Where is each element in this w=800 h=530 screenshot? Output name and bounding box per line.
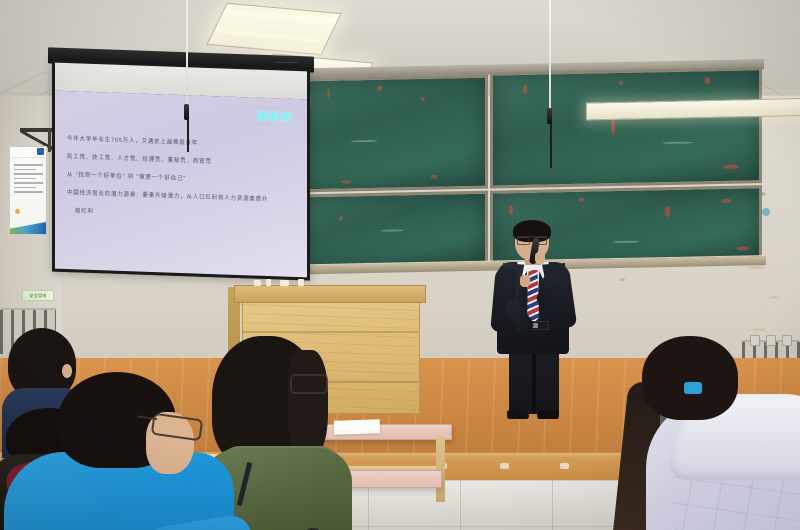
student-hair xyxy=(642,336,738,420)
slide-line: 级红利 xyxy=(75,209,297,222)
projected-slide: 课前秀 今年大学毕业生765万人，又遇史上最难就业年 民工荒、技工荒、人才荒、经… xyxy=(55,91,307,278)
lectern-top xyxy=(234,285,426,303)
lecturer-hand xyxy=(535,252,545,264)
wall-sticker-label: 安全用电 xyxy=(23,291,53,300)
screen-case-label: ————— xyxy=(276,59,298,65)
slide-line: 从 "找到一个好单位" 到 "做更一个好自己" xyxy=(67,173,297,186)
poster-seal-icon xyxy=(15,209,20,214)
blackboard-panel xyxy=(490,67,762,188)
poster-footer-band xyxy=(10,222,46,234)
poster-logo-icon xyxy=(37,148,44,155)
student-lavender-puffer xyxy=(624,336,800,530)
lecturer-hand xyxy=(520,275,530,287)
hanging-microphone-icon xyxy=(184,104,189,120)
hanging-mic-pole xyxy=(186,0,188,108)
classroom-lecture-photo: 安全用电 xyxy=(0,0,800,530)
ceiling-light-icon xyxy=(206,3,341,55)
slide-line: 民工荒、技工荒、人才荒、经理荒、董秘荒、高管荒 xyxy=(67,155,297,168)
glasses-icon xyxy=(290,374,328,394)
student-blue-hoodie xyxy=(34,372,284,530)
hair-tie-icon xyxy=(684,382,702,394)
desk-leg xyxy=(436,436,445,502)
projector-screen: ————— 课前秀 今年大学毕业生765万人，又遇史上最难就业年 民工荒、技工荒… xyxy=(52,59,310,280)
slide-line: 今年大学毕业生765万人，又遇史上最难就业年 xyxy=(67,137,297,150)
wall-sticker: 安全用电 xyxy=(22,290,54,301)
lecturer-shoe xyxy=(507,410,529,419)
slide-title: 课前秀 xyxy=(257,108,293,124)
notice-poster xyxy=(9,146,47,235)
lecturer-shoe xyxy=(537,410,559,419)
lecturer xyxy=(487,222,583,428)
slide-line: 中国经济增长的潜力源泉：要素升级潜力，从人口红利到人力资源素质升 xyxy=(67,191,297,204)
lectern-items xyxy=(250,280,370,286)
hanging-mic-pole xyxy=(549,0,551,112)
student-hair-side xyxy=(288,350,328,458)
hanging-microphone-icon xyxy=(547,108,552,124)
slide-body: 今年大学毕业生765万人，又遇史上最难就业年 民工荒、技工荒、人才荒、经理荒、董… xyxy=(67,137,297,235)
